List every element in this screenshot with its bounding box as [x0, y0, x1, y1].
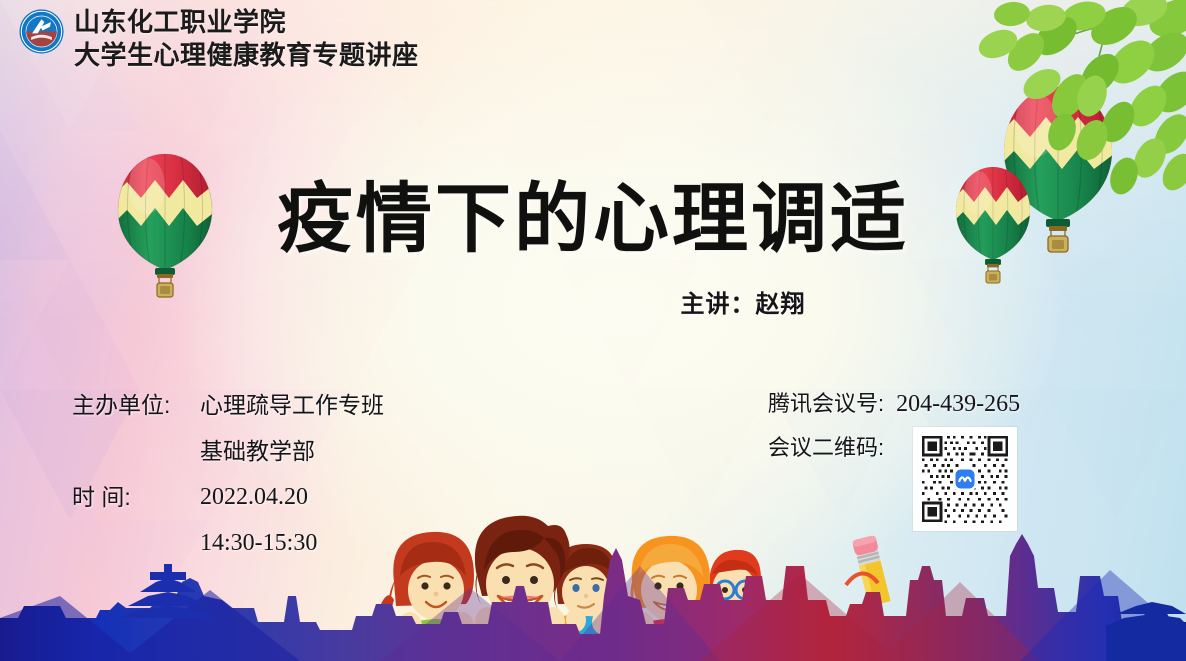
event-info-left: 主办单位: 心理疏导工作专班 基础教学部 时 间: 2022.04.20 14:… [72, 382, 384, 566]
page-title: 疫情下的心理调适 [0, 176, 1186, 264]
speaker-label: 主讲：赵翔 [0, 284, 1186, 319]
time-label-spacer [72, 520, 194, 566]
svg-text:·: · [41, 15, 42, 19]
university-emblem-icon: · [18, 8, 65, 55]
organizer-label-spacer [72, 428, 194, 474]
organizer-label: 主办单位: [72, 382, 194, 428]
qr-code-icon[interactable] [913, 427, 1017, 531]
organizer-row-1: 主办单位: 心理疏导工作专班 [72, 382, 384, 428]
time-row-1: 时 间: 2022.04.20 [72, 474, 384, 520]
meeting-number-label: 腾讯会议号: [768, 382, 884, 426]
header-title-block: 山东化工职业学院 大学生心理健康教育专题讲座 [74, 6, 419, 72]
event-date: 2022.04.20 [194, 474, 308, 520]
qr-code-label: 会议二维码: [768, 426, 884, 470]
organizer-value-2: 基础教学部 [194, 428, 315, 474]
poster-root: · 山东化工职业学院 大学生心理健康教育专题讲座 [0, 0, 1186, 661]
meeting-number-value[interactable]: 204-439-265 [884, 382, 1020, 426]
header-line-1: 山东化工职业学院 [74, 6, 419, 39]
header: · 山东化工职业学院 大学生心理健康教育专题讲座 [0, 0, 1186, 100]
organizer-value-1: 心理疏导工作专班 [194, 382, 384, 428]
time-row-2: 14:30-15:30 [72, 520, 384, 566]
time-label: 时 间: [72, 474, 194, 520]
event-time-range: 14:30-15:30 [194, 520, 317, 566]
header-line-2: 大学生心理健康教育专题讲座 [74, 39, 419, 72]
meeting-number-row: 腾讯会议号: 204-439-265 [768, 382, 1020, 426]
organizer-row-2: 基础教学部 [72, 428, 384, 474]
tencent-meeting-logo-icon [954, 468, 977, 491]
